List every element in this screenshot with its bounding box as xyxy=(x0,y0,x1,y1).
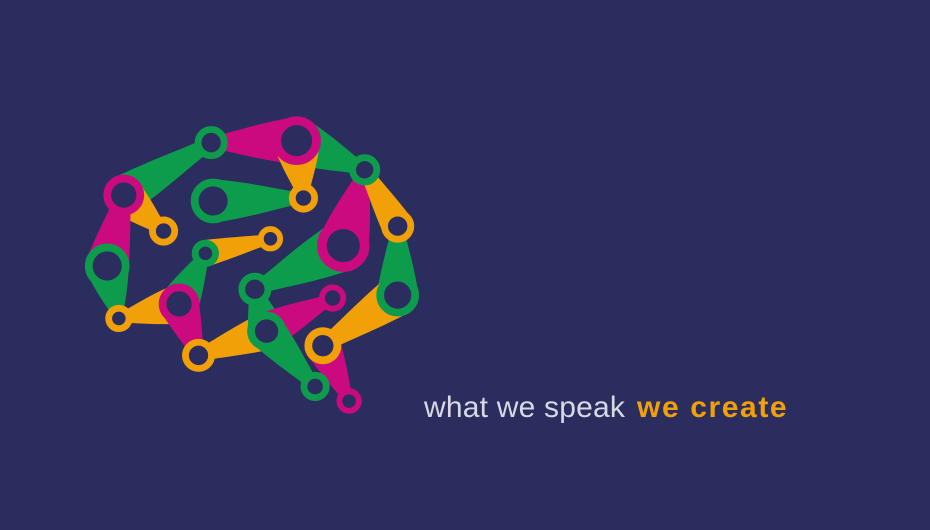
logo-node-hole-n12 xyxy=(199,247,213,261)
logo-node-hole-n7 xyxy=(388,216,407,235)
logo-node-hole-n9 xyxy=(264,232,278,246)
brain-logo-svg xyxy=(56,96,446,436)
logo-node-hole-n14 xyxy=(384,282,411,309)
logo-node-hole-n16 xyxy=(166,291,191,316)
logo-node-hole-n13 xyxy=(245,280,264,299)
brain-network-logo xyxy=(56,96,446,436)
tagline-accent-text: we create xyxy=(637,391,788,425)
logo-node-hole-n1 xyxy=(201,133,220,152)
logo-node-hole-n19 xyxy=(255,319,278,342)
logo-node-hole-n11 xyxy=(93,251,122,280)
logo-node-hole-n8 xyxy=(156,223,172,239)
logo-node-hole-n15 xyxy=(112,312,126,326)
logo-nodes-group xyxy=(89,121,415,411)
logo-node-hole-n10 xyxy=(327,229,360,262)
logo-node-hole-n21 xyxy=(307,379,323,395)
logo-node-hole-n17 xyxy=(325,290,341,306)
logo-node-hole-n18 xyxy=(189,346,208,365)
logo-node-hole-n4 xyxy=(111,182,136,207)
logo-node-hole-n3 xyxy=(356,161,373,178)
logo-node-hole-n2 xyxy=(281,125,312,156)
tagline-light-text: what we speak xyxy=(424,391,625,425)
tagline: what we speak we create xyxy=(424,390,788,426)
logo-node-hole-n6 xyxy=(296,190,312,206)
logo-node-hole-n20 xyxy=(312,335,333,356)
logo-screen: what we speak we create xyxy=(0,0,930,530)
logo-node-hole-n22 xyxy=(342,394,356,408)
logo-node-hole-n5 xyxy=(199,186,228,215)
